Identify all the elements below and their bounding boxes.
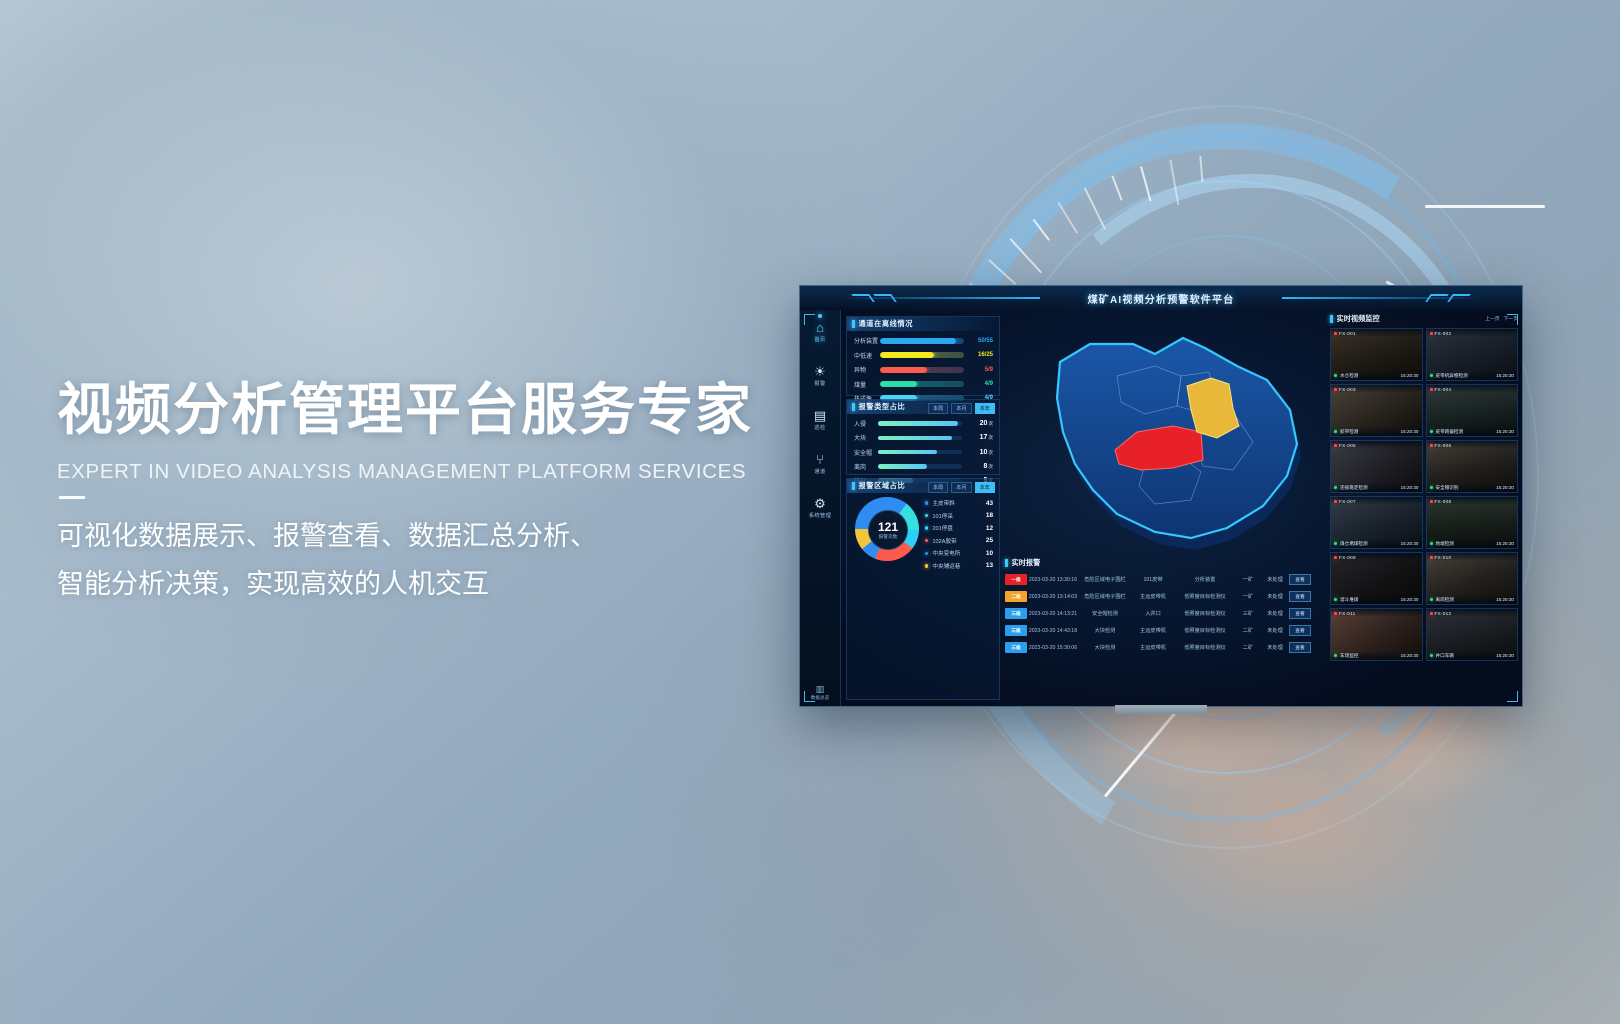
channel-name: 异物: [854, 365, 880, 374]
table-row: 二级2023-03-20 13:14:03危险区域电子围栏主运皮带机低照度目标检…: [1005, 588, 1325, 605]
globe-dash: [1425, 205, 1545, 208]
view-button[interactable]: 查看: [1289, 625, 1311, 637]
camera-name: 煤仓堵煤检测: [1340, 541, 1401, 547]
alarm-mine: 二矿: [1235, 627, 1261, 634]
alarm-time: 2023-03-20 13:30:16: [1027, 577, 1079, 583]
alarm-type-track: [878, 436, 962, 441]
map-svg: [1005, 314, 1325, 564]
table-row: 三级2023-03-20 15:30:06大块检测主运皮带机低照度目标检测仪二矿…: [1005, 639, 1325, 656]
legend-label: 中央辅运巷: [932, 562, 986, 570]
alarm-type-rows: 入侵20次大块17次安全帽10次离岗8次锚杆5次: [847, 419, 999, 485]
view-button[interactable]: 查看: [1289, 574, 1311, 586]
alarm-mine: 一矿: [1235, 593, 1261, 600]
online-status-icon: [1334, 542, 1337, 545]
camera-id: FX-004: [1435, 387, 1452, 392]
alarm-area-panel-title: 报警区域占比: [859, 481, 906, 491]
legend-item: 101停采18: [925, 512, 993, 520]
alarm-panel-header: 实时报警: [1005, 558, 1325, 568]
donut-center: 121 报警次数: [868, 510, 908, 550]
legend-item: 主皮带斜43: [925, 499, 993, 507]
camera-id: FX-007: [1339, 499, 1356, 504]
recording-indicator-icon: [1334, 388, 1337, 391]
video-tile-footer: 溜斗堆煤15:20:30: [1331, 595, 1422, 604]
camera-id: FX-003: [1339, 387, 1356, 392]
recording-indicator-icon: [1334, 444, 1337, 447]
globe-tick: [1033, 219, 1050, 241]
legend-label: 主皮带斜: [932, 499, 986, 507]
recording-indicator-icon: [1334, 612, 1337, 615]
camera-name: 溜斗堆煤: [1340, 597, 1401, 603]
channel-value: 4/9: [969, 381, 993, 387]
legend-value: 12: [986, 525, 993, 532]
video-tile[interactable]: FX-001水仓检测15:20:30: [1330, 328, 1423, 381]
alarm-type-fill: [878, 450, 937, 455]
globe-tick: [1199, 156, 1203, 182]
camera-timestamp: 15:20:30: [1401, 597, 1419, 602]
online-status-icon: [1430, 542, 1433, 545]
channel-progress-fill: [880, 381, 917, 387]
status-badge: 三级: [1005, 608, 1027, 618]
status-badge: 二级: [1005, 591, 1027, 601]
camera-timestamp: 15:20:30: [1496, 485, 1514, 490]
video-tile-header: FX-011: [1331, 609, 1422, 617]
legend-value: 18: [986, 512, 993, 519]
channel-value: 5/9: [969, 367, 993, 373]
legend-color-dot: [925, 539, 928, 542]
alarm-table: 一级2023-03-20 13:30:16危险区域电子围栏101皮带分析装置一矿…: [1005, 571, 1325, 656]
video-tile-footer: 地端检测15:20:30: [1427, 539, 1518, 548]
globe-tick: [1057, 202, 1078, 234]
recording-indicator-icon: [1334, 500, 1337, 503]
alarm-status: 未处理: [1261, 576, 1289, 583]
camera-timestamp: 15:20:30: [1496, 597, 1514, 602]
sidebar-item-4[interactable]: ⚙系统管理: [800, 486, 840, 530]
alarm-device: 低照度目标检测仪: [1175, 627, 1235, 634]
hero-description-line1: 可视化数据展示、报警查看、数据汇总分析、: [57, 513, 817, 560]
legend-label: 201停盘: [932, 524, 986, 532]
channel-progress-fill: [880, 338, 956, 344]
channel-row: 分析装置50/55: [854, 336, 993, 345]
dashboard-screen: 煤矿AI视频分析预警软件平台 ⌂首页☀报警▤巡检⑂通道⚙系统管理 ▥ 数据总览 …: [800, 286, 1522, 706]
online-status-icon: [1334, 654, 1337, 657]
channel-name: 中低速: [854, 351, 880, 360]
video-tile[interactable]: FX-012井口车辆15:20:30: [1426, 608, 1519, 661]
clipboard-icon: ▤: [814, 409, 826, 422]
camera-name: 地端检测: [1436, 541, 1497, 547]
online-status-icon: [1430, 654, 1433, 657]
alarm-type-value: 20次: [967, 420, 993, 427]
alarm-location: 入井口: [1131, 610, 1175, 617]
alarm-device: 低照度目标检测仪: [1175, 610, 1235, 617]
table-row: 三级2023-03-20 14:13:21安全帽检测入井口低照度目标检测仪三矿未…: [1005, 605, 1325, 622]
view-button[interactable]: 查看: [1289, 642, 1311, 654]
camera-name: 井口车辆: [1436, 653, 1497, 659]
alarm-type-track: [878, 421, 962, 426]
video-tile[interactable]: FX-010离岗检测15:20:30: [1426, 552, 1519, 605]
video-grid: FX-001水仓检测15:20:30FX-002皮带机异物检测15:20:30F…: [1330, 328, 1518, 661]
alarm-type-name: 大块: [854, 433, 878, 442]
camera-timestamp: 15:20:30: [1496, 653, 1514, 658]
alarm-mine: 三矿: [1235, 610, 1261, 617]
recording-indicator-icon: [1430, 500, 1433, 503]
camera-id: FX-002: [1435, 331, 1452, 336]
camera-id: FX-011: [1339, 611, 1356, 616]
globe-tick: [1140, 166, 1151, 201]
alarm-type-name: 离岗: [854, 462, 878, 471]
alarm-mine: 二矿: [1235, 644, 1261, 651]
alarm-type-value: 10次: [967, 449, 993, 456]
status-badge: 一级: [1005, 574, 1027, 584]
globe-tick: [988, 259, 1016, 285]
video-tile-header: FX-009: [1331, 553, 1422, 561]
alarm-type-track: [878, 450, 962, 455]
legend-item: 102A胶带25: [925, 537, 993, 545]
camera-name: 胶带检测: [1340, 429, 1401, 435]
divider-rule: [59, 496, 85, 499]
video-tile-footer: 违规靠走检测15:20:30: [1331, 483, 1422, 492]
alarm-location: 主运皮带机: [1131, 644, 1175, 651]
video-tile-footer: 水仓检测15:20:30: [1331, 371, 1422, 380]
alarm-time: 2023-03-20 14:43:18: [1027, 628, 1079, 634]
online-status-icon: [1430, 430, 1433, 433]
camera-timestamp: 15:20:30: [1401, 429, 1419, 434]
alarm-type: 大块检测: [1079, 644, 1131, 651]
alarm-type-panel: 报警类型占比 本周本月本年 入侵20次大块17次安全帽10次离岗8次锚杆5次: [846, 399, 1000, 475]
video-tile-footer: 皮带跑偏检测15:20:30: [1427, 427, 1518, 436]
video-tile[interactable]: FX-011车场监控15:20:30: [1330, 608, 1423, 661]
alarm-status: 未处理: [1261, 610, 1289, 617]
camera-name: 违规靠走检测: [1340, 485, 1401, 491]
video-monitor-panel: 实时视频监控 上一页 下一页 FX-001水仓检测15:20:30FX-002皮…: [1330, 314, 1518, 702]
alarm-icon: ☀: [814, 365, 826, 378]
legend-item: 中央辅运巷13: [925, 562, 993, 570]
recording-indicator-icon: [1334, 556, 1337, 559]
video-tile[interactable]: FX-005违规靠走检测15:20:30: [1330, 440, 1423, 493]
alarm-area-panel: 报警区域占比 本周本月本年 121 报警次数 主皮带斜43101停采18201停…: [846, 478, 1000, 700]
alarm-type-row: 安全帽10次: [854, 448, 993, 457]
online-status-icon: [1430, 486, 1433, 489]
globe-tick: [1009, 238, 1041, 273]
prev-page-button[interactable]: 上一页: [1485, 315, 1499, 322]
tab-本周[interactable]: 本周: [928, 482, 948, 493]
channel-progress-fill: [880, 352, 934, 358]
alarm-type-panel-title: 报警类型占比: [859, 402, 906, 412]
video-tile[interactable]: FX-007煤仓堵煤检测15:20:30: [1330, 496, 1423, 549]
alarm-time: 2023-03-20 14:13:21: [1027, 611, 1079, 617]
channel-progress-track: [880, 381, 964, 387]
alarm-type-fill: [878, 464, 927, 469]
dashboard-header: 煤矿AI视频分析预警软件平台: [800, 286, 1522, 312]
channel-value: 16/25: [969, 352, 993, 358]
alarm-type-name: 入侵: [854, 419, 878, 428]
recording-indicator-icon: [1430, 556, 1433, 559]
recording-indicator-icon: [1430, 388, 1433, 391]
alarm-type: 安全帽检测: [1079, 610, 1131, 617]
video-tile-footer: 安全帽识别15:20:30: [1427, 483, 1518, 492]
channel-status-panel: 通道在离线情况 分析装置50/55中低速16/25异物5/9煤量4/9热成像4/…: [846, 316, 1000, 396]
donut-total-caption: 报警次数: [879, 534, 897, 540]
next-page-button[interactable]: 下一页: [1504, 315, 1518, 322]
legend-value: 43: [986, 500, 993, 507]
legend-color-dot: [925, 501, 928, 504]
camera-id: FX-006: [1435, 443, 1452, 448]
camera-id: FX-012: [1435, 611, 1452, 616]
panel-accent-bar: [852, 482, 855, 490]
alarm-location: 主运皮带机: [1131, 627, 1175, 634]
alarm-type: 大块检测: [1079, 627, 1131, 634]
online-status-icon: [1334, 374, 1337, 377]
home-icon: ⌂: [816, 321, 824, 334]
alarm-device: 分析装置: [1175, 576, 1235, 583]
panel-accent-bar: [852, 403, 855, 411]
channel-name: 煤量: [854, 380, 880, 389]
channel-row: 煤量4/9: [854, 380, 993, 389]
video-tile-header: FX-012: [1427, 609, 1518, 617]
alarm-area-donut-chart: 121 报警次数: [855, 497, 919, 561]
recording-indicator-icon: [1430, 332, 1433, 335]
video-tile[interactable]: FX-009溜斗堆煤15:20:30: [1330, 552, 1423, 605]
sidebar-nav: ⌂首页☀报警▤巡检⑂通道⚙系统管理: [800, 310, 840, 530]
video-tile-header: FX-008: [1427, 497, 1518, 505]
camera-timestamp: 15:20:30: [1401, 373, 1419, 378]
alarm-type-value: 8次: [967, 463, 993, 470]
alarm-time: 2023-03-20 15:30:06: [1027, 645, 1079, 651]
sidebar-item-label: 首页: [814, 336, 825, 343]
video-tile[interactable]: FX-002皮带机异物检测15:20:30: [1426, 328, 1519, 381]
legend-color-dot: [925, 552, 928, 555]
video-tile-footer: 井口车辆15:20:30: [1427, 651, 1518, 660]
channel-value: 50/55: [969, 338, 993, 344]
alarm-type-row: 离岗8次: [854, 462, 993, 471]
alarm-type-row: 大块17次: [854, 433, 993, 442]
video-tile-header: FX-005: [1331, 441, 1422, 449]
donut-total-value: 121: [878, 521, 898, 533]
camera-timestamp: 15:20:30: [1401, 485, 1419, 490]
alarm-type-tabs[interactable]: 本周本月本年: [928, 403, 995, 414]
globe-tick: [1169, 160, 1179, 206]
camera-id: FX-008: [1435, 499, 1452, 504]
legend-color-dot: [925, 514, 928, 517]
view-button[interactable]: 查看: [1289, 591, 1311, 603]
alarm-type-track: [878, 464, 962, 469]
tab-本月[interactable]: 本月: [951, 403, 971, 414]
video-tile-header: FX-010: [1427, 553, 1518, 561]
video-tile-footer: 皮带机异物检测15:20:30: [1427, 371, 1518, 380]
video-tile-header: FX-006: [1427, 441, 1518, 449]
globe-tick: [1111, 176, 1122, 201]
camera-name: 皮带跑偏检测: [1436, 429, 1497, 435]
alarm-panel-title: 实时报警: [1012, 558, 1041, 568]
hero-subtitle: EXPERT IN VIDEO ANALYSIS MANAGEMENT PLAT…: [57, 460, 817, 484]
legend-value: 25: [986, 537, 993, 544]
gear-icon: ⚙: [814, 497, 826, 510]
video-tile-footer: 胶带检测15:20:30: [1331, 427, 1422, 436]
sidebar-item-label: 巡检: [814, 424, 825, 431]
tab-本年[interactable]: 本年: [975, 403, 995, 414]
online-status-icon: [1430, 374, 1433, 377]
alarm-area-panel-header: 报警区域占比 本周本月本年: [847, 479, 999, 493]
tab-本周[interactable]: 本周: [928, 403, 948, 414]
panel-accent-bar: [1330, 315, 1333, 323]
video-tile[interactable]: FX-003胶带检测15:20:30: [1330, 384, 1423, 437]
video-tile[interactable]: FX-008地端检测15:20:30: [1426, 496, 1519, 549]
camera-id: FX-010: [1435, 555, 1452, 560]
alarm-type-value: 17次: [967, 434, 993, 441]
dashboard-title: 煤矿AI视频分析预警软件平台: [800, 291, 1522, 306]
alarm-time: 2023-03-20 13:14:03: [1027, 594, 1079, 600]
online-status-icon: [1334, 598, 1337, 601]
alarm-type-fill: [878, 421, 958, 426]
sidebar-item-1[interactable]: ☀报警: [800, 354, 840, 398]
sidebar: ⌂首页☀报警▤巡检⑂通道⚙系统管理 ▥ 数据总览: [800, 310, 841, 706]
legend-label: 中央变电所: [932, 549, 986, 557]
camera-id: FX-005: [1339, 443, 1356, 448]
channel-progress-track: [880, 367, 964, 373]
alarm-status: 未处理: [1261, 644, 1289, 651]
status-badge: 三级: [1005, 625, 1027, 635]
alarm-type: 危险区域电子围栏: [1079, 576, 1131, 583]
alarm-location: 主运皮带机: [1131, 593, 1175, 600]
channel-row: 中低速16/25: [854, 351, 993, 360]
hero-copy: 视频分析管理平台服务专家 EXPERT IN VIDEO ANALYSIS MA…: [57, 378, 817, 608]
view-button[interactable]: 查看: [1289, 608, 1311, 620]
recording-indicator-icon: [1430, 444, 1433, 447]
camera-timestamp: 15:20:30: [1401, 653, 1419, 658]
globe-tick: [1084, 187, 1106, 229]
camera-id: FX-009: [1339, 555, 1356, 560]
video-panel-title: 实时视频监控: [1337, 314, 1380, 324]
channel-progress-track: [880, 338, 964, 344]
online-status-icon: [1334, 486, 1337, 489]
camera-timestamp: 15:20:30: [1496, 541, 1514, 546]
status-badge: 三级: [1005, 642, 1027, 652]
recording-indicator-icon: [1430, 612, 1433, 615]
frame-corner-top-left: [804, 314, 815, 325]
alarm-area-tabs[interactable]: 本周本月本年: [928, 482, 995, 493]
recording-indicator-icon: [1334, 332, 1337, 335]
camera-name: 皮带机异物检测: [1436, 373, 1497, 379]
frame-corner-bottom-left: [804, 691, 815, 702]
camera-name: 安全帽识别: [1436, 485, 1497, 491]
video-tile-footer: 车场监控15:20:30: [1331, 651, 1422, 660]
alarm-area-legend: 主皮带斜43101停采18201停盘12102A胶带25中央变电所10中央辅运巷…: [925, 499, 993, 575]
alarm-mine: 一矿: [1235, 576, 1261, 583]
alarm-status: 未处理: [1261, 627, 1289, 634]
tab-本月[interactable]: 本月: [951, 482, 971, 493]
camera-id: FX-001: [1339, 331, 1356, 336]
channel-name: 分析装置: [854, 336, 880, 345]
online-status-icon: [1430, 598, 1433, 601]
monitor-stand: [1115, 705, 1207, 714]
video-tile-header: FX-002: [1427, 329, 1518, 337]
legend-value: 13: [986, 562, 993, 569]
video-tile-footer: 煤仓堵煤检测15:20:30: [1331, 539, 1422, 548]
channel-panel-title: 通道在离线情况: [859, 319, 914, 329]
video-tile-header: FX-007: [1331, 497, 1422, 505]
camera-name: 车场监控: [1340, 653, 1401, 659]
sidebar-item-label: 系统管理: [809, 512, 831, 519]
table-row: 一级2023-03-20 13:30:16危险区域电子围栏101皮带分析装置一矿…: [1005, 571, 1325, 588]
region-map[interactable]: [1005, 314, 1325, 564]
legend-label: 101停采: [932, 512, 986, 520]
alarm-device: 低照度目标检测仪: [1175, 593, 1235, 600]
hero-description-line2: 智能分析决策，实现高效的人机交互: [57, 561, 817, 608]
sidebar-item-label: 通道: [814, 468, 825, 475]
dashboard-monitor: 煤矿AI视频分析预警软件平台 ⌂首页☀报警▤巡检⑂通道⚙系统管理 ▥ 数据总览 …: [799, 285, 1523, 707]
alarm-device: 低照度目标检测仪: [1175, 644, 1235, 651]
video-tile-header: FX-004: [1427, 385, 1518, 393]
channel-progress-track: [880, 352, 964, 358]
legend-item: 中央变电所10: [925, 549, 993, 557]
alarm-type-fill: [878, 436, 952, 441]
video-panel-header: 实时视频监控 上一页 下一页: [1330, 314, 1518, 324]
channel-icon: ⑂: [816, 453, 824, 466]
alarm-status: 未处理: [1261, 593, 1289, 600]
sidebar-item-3[interactable]: ⑂通道: [800, 442, 840, 486]
camera-timestamp: 15:20:30: [1496, 429, 1514, 434]
camera-name: 离岗检测: [1436, 597, 1497, 603]
channel-row: 异物5/9: [854, 365, 993, 374]
video-pager[interactable]: 上一页 下一页: [1485, 315, 1518, 322]
video-tile[interactable]: FX-004皮带跑偏检测15:20:30: [1426, 384, 1519, 437]
sidebar-item-2[interactable]: ▤巡检: [800, 398, 840, 442]
legend-item: 201停盘12: [925, 524, 993, 532]
legend-color-dot: [925, 564, 928, 567]
alarm-type: 危险区域电子围栏: [1079, 593, 1131, 600]
video-tile-header: FX-001: [1331, 329, 1422, 337]
legend-color-dot: [925, 526, 928, 529]
panel-accent-bar: [1005, 559, 1008, 567]
camera-name: 水仓检测: [1340, 373, 1401, 379]
camera-timestamp: 15:20:30: [1401, 541, 1419, 546]
camera-timestamp: 15:20:30: [1496, 373, 1514, 378]
tab-本年[interactable]: 本年: [975, 482, 995, 493]
sidebar-item-label: 报警: [814, 380, 825, 387]
alarm-location: 101皮带: [1131, 576, 1175, 583]
channel-rows: 分析装置50/55中低速16/25异物5/9煤量4/9热成像4/9: [847, 336, 999, 403]
realtime-alarm-panel: 实时报警 一级2023-03-20 13:30:16危险区域电子围栏101皮带分…: [1005, 558, 1325, 702]
alarm-type-name: 安全帽: [854, 448, 878, 457]
panel-accent-bar: [852, 320, 855, 328]
page-title: 视频分析管理平台服务专家: [57, 378, 817, 442]
table-row: 三级2023-03-20 14:43:18大块检测主运皮带机低照度目标检测仪二矿…: [1005, 622, 1325, 639]
video-tile-header: FX-003: [1331, 385, 1422, 393]
channel-progress-fill: [880, 367, 927, 373]
video-tile[interactable]: FX-006安全帽识别15:20:30: [1426, 440, 1519, 493]
legend-value: 10: [986, 550, 993, 557]
alarm-type-panel-header: 报警类型占比 本周本月本年: [847, 400, 999, 414]
channel-panel-header: 通道在离线情况: [847, 317, 999, 331]
legend-label: 102A胶带: [932, 537, 986, 545]
video-tile-footer: 离岗检测15:20:30: [1427, 595, 1518, 604]
online-status-icon: [1334, 430, 1337, 433]
alarm-type-row: 入侵20次: [854, 419, 993, 428]
